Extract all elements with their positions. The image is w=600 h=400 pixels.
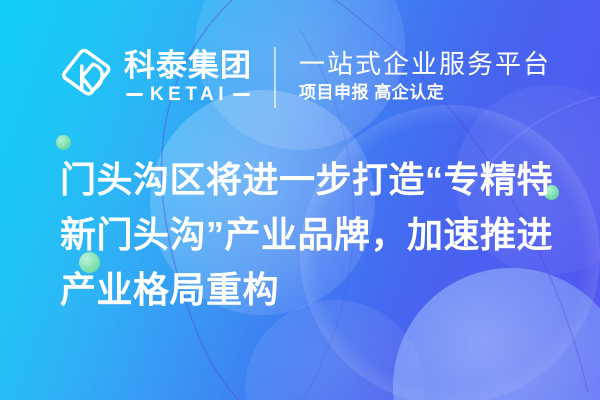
brand-name-en-row: KETAI bbox=[124, 85, 252, 104]
dash-left-icon bbox=[126, 93, 143, 96]
promo-banner: 科泰集团 KETAI 一站式企业服务平台 项目申报 高企认定 门头沟区将进一步打… bbox=[0, 0, 600, 400]
headline-line-1: 门头沟区将进一步打造“专精特 bbox=[60, 152, 570, 207]
brand-name-cn: 科泰集团 bbox=[124, 50, 252, 83]
dash-right-icon bbox=[233, 93, 250, 96]
ketai-diamond-kd-logo-icon bbox=[56, 46, 118, 108]
accent-dot-upper-left bbox=[56, 135, 71, 150]
brand-wordmark: 科泰集团 KETAI bbox=[124, 50, 252, 104]
brand-lockup[interactable]: 科泰集团 KETAI bbox=[56, 46, 252, 108]
slogan-secondary: 项目申报 高企认定 bbox=[299, 82, 551, 105]
header-divider bbox=[274, 47, 276, 108]
slogan-primary: 一站式企业服务平台 bbox=[299, 49, 551, 80]
brand-name-en: KETAI bbox=[150, 85, 228, 104]
headline-line-2: 新门头沟”产业品牌，加速推进 bbox=[60, 207, 570, 262]
banner-header: 科泰集团 KETAI 一站式企业服务平台 项目申报 高企认定 bbox=[0, 38, 600, 116]
slogan-block: 一站式企业服务平台 项目申报 高企认定 bbox=[299, 49, 551, 106]
headline-line-3: 产业格局重构 bbox=[60, 262, 570, 317]
headline: 门头沟区将进一步打造“专精特 新门头沟”产业品牌，加速推进 产业格局重构 bbox=[60, 152, 570, 317]
